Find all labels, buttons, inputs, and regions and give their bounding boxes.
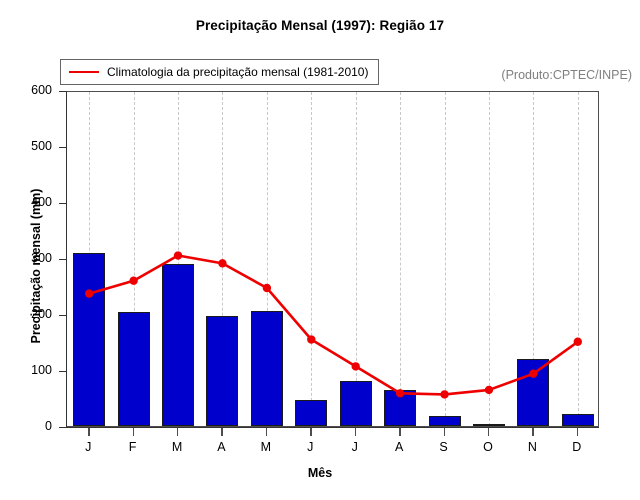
climatology-marker-o-9 [485, 386, 493, 394]
x-tick-mark-8 [444, 428, 445, 436]
y-tick-label-300: 300 [0, 251, 52, 265]
y-tick-label-400: 400 [0, 195, 52, 209]
climatology-marker-d-11 [574, 338, 582, 346]
y-tick-mark-400 [59, 203, 67, 204]
climatology-marker-j-5 [307, 335, 315, 343]
legend: Climatologia da precipitação mensal (198… [60, 59, 379, 85]
x-tick-label-6: J [335, 440, 375, 454]
y-tick-label-0: 0 [0, 419, 52, 433]
y-tick-label-200: 200 [0, 307, 52, 321]
climatology-line-series [67, 92, 598, 426]
x-tick-mark-10 [532, 428, 533, 436]
x-tick-mark-1 [133, 428, 134, 436]
legend-label-climatologia: Climatologia da precipitação mensal (198… [107, 65, 368, 79]
climatology-marker-n-10 [529, 369, 537, 377]
y-tick-mark-300 [59, 259, 67, 260]
y-tick-mark-200 [59, 315, 67, 316]
x-tick-label-2: M [157, 440, 197, 454]
climatology-marker-a-7 [396, 389, 404, 397]
x-tick-mark-11 [577, 428, 578, 436]
x-tick-label-11: D [557, 440, 597, 454]
y-tick-mark-600 [59, 91, 67, 92]
product-credit-annotation: (Produto:CPTEC/INPE) [501, 68, 632, 82]
climatology-marker-a-3 [218, 259, 226, 267]
y-tick-label-100: 100 [0, 363, 52, 377]
x-tick-mark-2 [177, 428, 178, 436]
x-tick-label-4: M [246, 440, 286, 454]
climatology-marker-m-4 [263, 284, 271, 292]
x-tick-label-8: S [424, 440, 464, 454]
x-tick-mark-6 [355, 428, 356, 436]
chart-title: Precipitação Mensal (1997): Região 17 [0, 18, 640, 33]
x-tick-mark-3 [221, 428, 222, 436]
legend-line-swatch-icon [69, 71, 99, 74]
x-axis-line [66, 427, 599, 428]
precipitation-chart-figure: Precipitação Mensal (1997): Região 17 Pr… [0, 0, 640, 500]
x-tick-label-0: J [68, 440, 108, 454]
x-tick-label-1: F [113, 440, 153, 454]
x-tick-mark-4 [266, 428, 267, 436]
x-tick-label-7: A [379, 440, 419, 454]
x-tick-mark-5 [310, 428, 311, 436]
plot-area [66, 91, 599, 427]
x-axis-title: Mês [0, 466, 640, 480]
y-tick-label-500: 500 [0, 139, 52, 153]
x-tick-mark-9 [488, 428, 489, 436]
x-tick-mark-0 [88, 428, 89, 436]
climatology-marker-f-1 [129, 277, 137, 285]
x-tick-label-10: N [512, 440, 552, 454]
y-tick-label-600: 600 [0, 83, 52, 97]
plot-inner [67, 92, 598, 426]
x-tick-label-5: J [290, 440, 330, 454]
climatology-marker-s-8 [440, 390, 448, 398]
y-tick-mark-500 [59, 147, 67, 148]
x-tick-label-3: A [201, 440, 241, 454]
climatology-polyline [89, 256, 578, 395]
x-tick-mark-7 [399, 428, 400, 436]
x-tick-label-9: O [468, 440, 508, 454]
climatology-marker-j-6 [352, 362, 360, 370]
y-tick-mark-0 [59, 427, 67, 428]
y-tick-mark-100 [59, 371, 67, 372]
climatology-marker-m-2 [174, 251, 182, 259]
climatology-marker-j-0 [85, 289, 93, 297]
